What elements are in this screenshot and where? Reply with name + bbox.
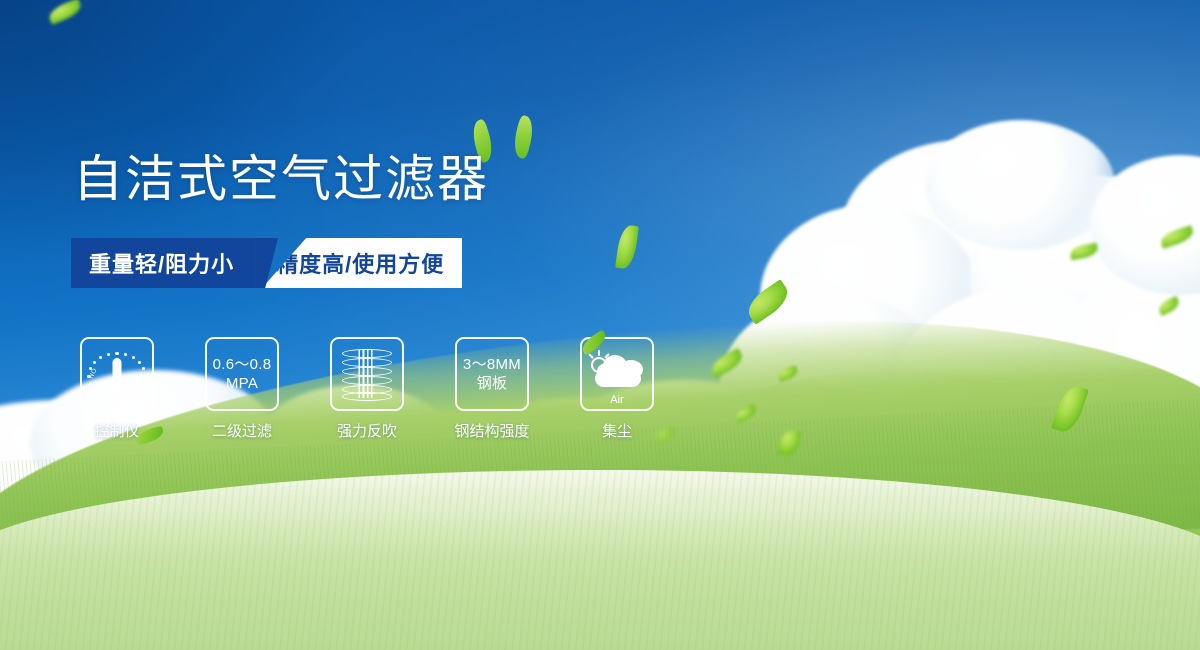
hero-banner: 自洁式空气过滤器 重量轻/阻力小 精度高/使用方便 NO OFF bbox=[0, 0, 1200, 650]
feature-icon-box: Air bbox=[580, 337, 654, 411]
feature-label: 二级过滤 bbox=[212, 420, 272, 441]
subtitle-band: 重量轻/阻力小 精度高/使用方便 bbox=[71, 238, 462, 288]
feature-label: 集尘 bbox=[602, 420, 632, 441]
floating-leaf bbox=[615, 224, 639, 270]
cloud-air-icon: Air bbox=[589, 351, 645, 393]
pressure-value: 0.6〜0.8 bbox=[213, 355, 272, 374]
feature-icon-box: 0.6〜0.8 MPA bbox=[205, 337, 279, 411]
feature-label: 控制仪 bbox=[94, 420, 139, 441]
feature-item-dust-collection[interactable]: Air 集尘 bbox=[580, 337, 654, 441]
feature-item-steel-strength[interactable]: 3〜8MM 钢板 钢结构强度 bbox=[455, 337, 529, 441]
feature-item-backblow[interactable]: 强力反吹 bbox=[330, 337, 404, 441]
grass-foreground bbox=[0, 470, 1200, 650]
feature-label: 强力反吹 bbox=[337, 420, 397, 441]
subtitle-right: 精度高/使用方便 bbox=[262, 238, 462, 288]
feature-icon-box bbox=[330, 337, 404, 411]
feature-icon-box: 3〜8MM 钢板 bbox=[455, 337, 529, 411]
steel-thickness: 3〜8MM bbox=[463, 355, 521, 374]
air-label: Air bbox=[589, 394, 645, 406]
feature-item-secondary-filter[interactable]: 0.6〜0.8 MPA 二级过滤 bbox=[205, 337, 279, 441]
filter-rings-icon bbox=[342, 348, 392, 400]
page-title: 自洁式空气过滤器 bbox=[73, 150, 489, 208]
pressure-unit: MPA bbox=[226, 374, 258, 393]
steel-material: 钢板 bbox=[477, 374, 508, 393]
gauge-dial-icon: NO OFF bbox=[89, 348, 145, 400]
feature-list: NO OFF bbox=[80, 337, 654, 441]
feature-label: 钢结构强度 bbox=[455, 420, 530, 441]
floating-leaf bbox=[46, 0, 83, 25]
feature-item-control-meter[interactable]: NO OFF bbox=[80, 337, 154, 441]
subtitle-left: 重量轻/阻力小 bbox=[71, 238, 254, 288]
feature-icon-box: NO OFF bbox=[80, 337, 154, 411]
